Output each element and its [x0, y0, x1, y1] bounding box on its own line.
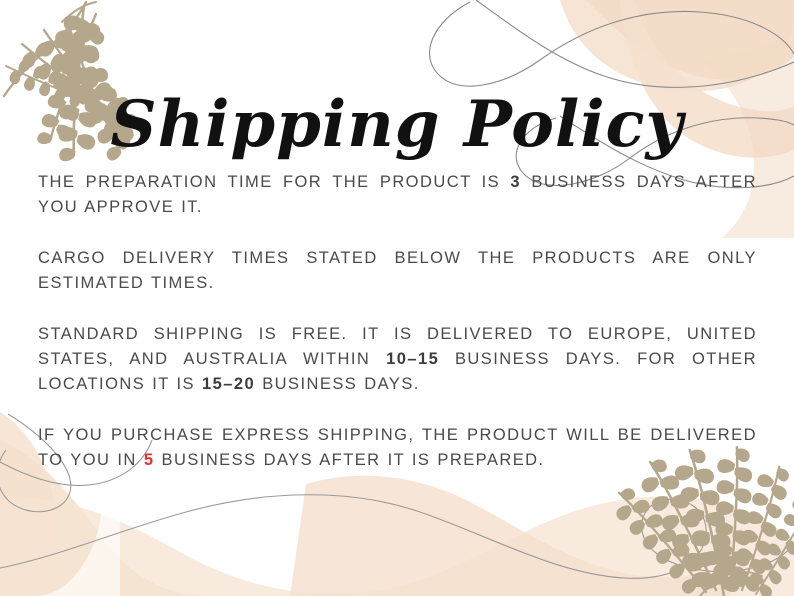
accent-value: 5 — [144, 451, 155, 469]
emphasis-value: 3 — [510, 173, 521, 191]
emphasis-value: 10–15 — [386, 350, 439, 368]
page-title: Shipping Policy — [0, 91, 794, 158]
text-run: THE PREPARATION TIME FOR THE PRODUCT IS — [38, 173, 510, 191]
paragraph-standard-shipping: STANDARD SHIPPING IS FREE. IT IS DELIVER… — [38, 322, 757, 397]
shipping-policy-page: Shipping Policy THE PREPARATION TIME FOR… — [0, 0, 794, 596]
emphasis-value: 15–20 — [202, 375, 255, 393]
paragraph-preparation-time: THE PREPARATION TIME FOR THE PRODUCT IS … — [38, 170, 757, 220]
content-layer: Shipping Policy THE PREPARATION TIME FOR… — [0, 0, 794, 596]
paragraph-express-shipping: IF YOU PURCHASE EXPRESS SHIPPING, THE PR… — [38, 423, 757, 473]
text-run: BUSINESS DAYS. — [255, 375, 420, 393]
policy-body: THE PREPARATION TIME FOR THE PRODUCT IS … — [38, 170, 757, 473]
paragraph-cargo-estimates: CARGO DELIVERY TIMES STATED BELOW THE PR… — [38, 246, 757, 296]
text-run: BUSINESS DAYS AFTER IT IS PREPARED. — [154, 451, 544, 469]
text-run: CARGO DELIVERY TIMES STATED BELOW THE PR… — [38, 249, 757, 292]
